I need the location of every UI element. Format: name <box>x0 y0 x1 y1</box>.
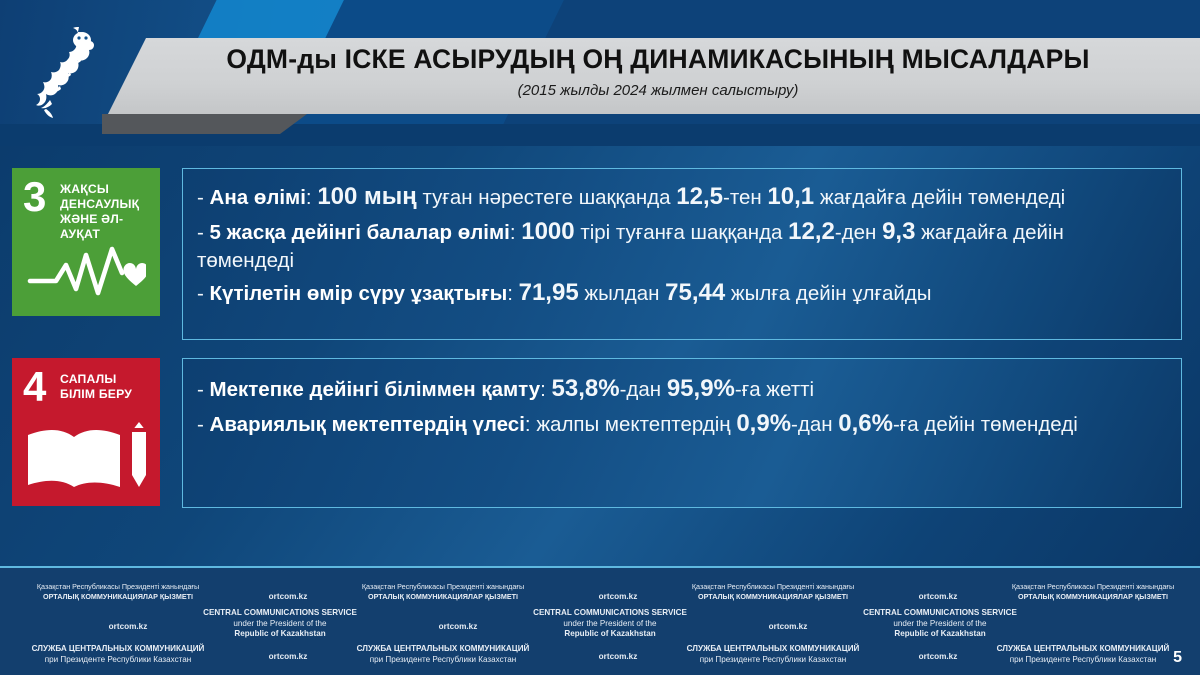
footer-site-4: ortcom.kz <box>88 622 168 633</box>
heartbeat-icon <box>12 241 160 308</box>
sdg-title-3-line2: ЖӘНЕ ӘЛ-АУҚАТ <box>60 212 154 242</box>
text-per-births: туған нәрестеге шаққанда <box>417 186 676 209</box>
page-subtitle: (2015 жылды 2024 жылмен салыстыру) <box>128 82 1188 99</box>
open-book-and-pencil-icon <box>12 421 160 498</box>
bullet-dash: - <box>197 221 210 244</box>
footer-org-en-line3: Republic of Kazakhstan <box>510 629 710 640</box>
footer-org-en-line1: CENTRAL COMMUNICATIONS SERVICE <box>180 608 380 619</box>
sdg-title-3-line1: ЖАҚСЫ ДЕНСАУЛЫҚ <box>60 182 154 212</box>
footer-org-ru-line1: СЛУЖБА ЦЕНТРАЛЬНЫХ КОММУНИКАЦИЙ <box>18 644 218 655</box>
footer-site-7: ortcom.kz <box>248 652 328 663</box>
bullet-maternal-mortality: - Ана өлімі: 100 мың туған нәрестеге шақ… <box>197 181 1165 213</box>
footer-watermark-bar: Қазақстан Республикасы Президенті жанынд… <box>0 566 1200 675</box>
footer-org-ru: СЛУЖБА ЦЕНТРАЛЬНЫХ КОММУНИКАЦИЙ при През… <box>18 644 218 665</box>
footer-org-en-line3: Republic of Kazakhstan <box>840 629 1040 640</box>
footer-org-kk: Қазақстан Республикасы Президенті жанынд… <box>988 582 1198 601</box>
text-per-live-births: тірі туғанға шаққанда <box>575 221 789 244</box>
panel-education: - Мектепке дейінгі біліммен қамту: 53,8%… <box>182 358 1182 508</box>
footer-org-kk-line1: Қазақстан Республикасы Президенті жанынд… <box>338 582 548 592</box>
bullet-colon: : <box>306 186 317 209</box>
footer-org-kk-line2: ОРТАЛЫҚ КОММУНИКАЦИЯЛАР ҚЫЗМЕТІ <box>668 592 878 602</box>
value-to-9-3: 9,3 <box>882 218 915 245</box>
sdg-title-4-line2: БІЛІМ БЕРУ <box>60 387 154 402</box>
footer-org-kk-line1: Қазақстан Республикасы Президенті жанынд… <box>668 582 878 592</box>
footer-org-ru: СЛУЖБА ЦЕНТРАЛЬНЫХ КОММУНИКАЦИЙ при През… <box>978 644 1188 665</box>
value-from-53-8: 53,8% <box>552 375 620 402</box>
bullet-dash: - <box>197 413 210 436</box>
footer-org-kk-line1: Қазақстан Республикасы Президенті жанынд… <box>18 582 218 592</box>
bullet-dilapidated-schools: - Авариялық мектептердің үлесі: жалпы ме… <box>197 408 1165 440</box>
footer-site-5: ortcom.kz <box>418 622 498 633</box>
footer-site-1: ortcom.kz <box>248 592 328 603</box>
bullet-colon: : <box>525 413 536 436</box>
text-from-suffix: -ден <box>835 221 882 244</box>
footer-org-en-line2: under the President of the <box>180 619 380 630</box>
footer-site-8: ortcom.kz <box>578 652 658 663</box>
text-decline-tail: -ға дейін төмендеді <box>893 413 1078 436</box>
footer-org-ru-line1: СЛУЖБА ЦЕНТРАЛЬНЫХ КОММУНИКАЦИЙ <box>978 644 1188 655</box>
footer-org-kk-line1: Қазақстан Республикасы Президенті жанынд… <box>988 582 1198 592</box>
panel-health: - Ана өлімі: 100 мың туған нәрестеге шақ… <box>182 168 1182 340</box>
value-to-10-1: 10,1 <box>767 183 814 210</box>
footer-site-2: ortcom.kz <box>578 592 658 603</box>
text-from-suffix: -тен <box>723 186 767 209</box>
bullet-dash: - <box>197 378 210 401</box>
value-from-71-95: 71,95 <box>519 279 579 306</box>
footer-org-ru-line2: при Президенте Республики Казахстан <box>18 655 218 666</box>
value-to-0-6: 0,6% <box>838 410 893 437</box>
footer-org-ru-line1: СЛУЖБА ЦЕНТРАЛЬНЫХ КОММУНИКАЦИЙ <box>668 644 878 655</box>
footer-site-6: ortcom.kz <box>748 622 828 633</box>
title-wedge-shadow <box>102 114 312 134</box>
footer-org-ru: СЛУЖБА ЦЕНТРАЛЬНЫХ КОММУНИКАЦИЙ при През… <box>338 644 548 665</box>
footer-org-ru: СЛУЖБА ЦЕНТРАЛЬНЫХ КОММУНИКАЦИЙ при През… <box>668 644 878 665</box>
footer-org-ru-line2: при Президенте Республики Казахстан <box>668 655 878 666</box>
sdg-number-3: 3 <box>23 178 46 217</box>
section-education: 4 САПАЛЫ БІЛІМ БЕРУ - Мектепке дейінг <box>12 358 1182 508</box>
footer-org-en: CENTRAL COMMUNICATIONS SERVICE under the… <box>840 608 1040 640</box>
footer-org-en-line3: Republic of Kazakhstan <box>180 629 380 640</box>
text-of-total-schools: жалпы мектептердің <box>536 413 736 436</box>
bullet-preschool-coverage: - Мектепке дейінгі біліммен қамту: 53,8%… <box>197 373 1165 405</box>
footer-site-3: ortcom.kz <box>898 592 978 603</box>
footer-org-kk-line2: ОРТАЛЫҚ КОММУНИКАЦИЯЛАР ҚЫЗМЕТІ <box>338 592 548 602</box>
footer-org-kk-line2: ОРТАЛЫҚ КОММУНИКАЦИЯЛАР ҚЫЗМЕТІ <box>18 592 218 602</box>
sdg-title-3: ЖАҚСЫ ДЕНСАУЛЫҚ ЖӘНЕ ӘЛ-АУҚАТ <box>60 182 154 242</box>
text-reached-tail: -ға жетті <box>735 378 814 401</box>
footer-org-ru-line1: СЛУЖБА ЦЕНТРАЛЬНЫХ КОММУНИКАЦИЙ <box>338 644 548 655</box>
value-1000: 1000 <box>521 218 574 245</box>
bullet-dash: - <box>197 282 210 305</box>
sdg-card-4: 4 САПАЛЫ БІЛІМ БЕРУ <box>12 358 160 506</box>
bullet-label: Авариялық мектептердің үлесі <box>210 413 525 436</box>
section-health: 3 ЖАҚСЫ ДЕНСАУЛЫҚ ЖӘНЕ ӘЛ-АУҚАТ - Ана өл… <box>12 168 1182 340</box>
bullet-label: Мектепке дейінгі біліммен қамту <box>210 378 541 401</box>
footer-org-kk-line2: ОРТАЛЫҚ КОММУНИКАЦИЯЛАР ҚЫЗМЕТІ <box>988 592 1198 602</box>
text-from-suffix: -дан <box>791 413 838 436</box>
sdg-card-3: 3 ЖАҚСЫ ДЕНСАУЛЫҚ ЖӘНЕ ӘЛ-АУҚАТ <box>12 168 160 316</box>
footer-org-ru-line2: при Президенте Республики Казахстан <box>338 655 548 666</box>
footer-org-en-line1: CENTRAL COMMUNICATIONS SERVICE <box>510 608 710 619</box>
value-100k: 100 мың <box>317 183 416 210</box>
page-title: ОДМ-ды ІСКЕ АСЫРУДЫҢ ОҢ ДИНАМИКАСЫНЫҢ МЫ… <box>128 44 1188 75</box>
footer-org-en-line2: under the President of the <box>510 619 710 630</box>
slide: ОДМ-ды ІСКЕ АСЫРУДЫҢ ОҢ ДИНАМИКАСЫНЫҢ МЫ… <box>0 0 1200 675</box>
value-to-95-9: 95,9% <box>667 375 735 402</box>
bullet-colon: : <box>540 378 551 401</box>
bullet-label: Күтілетін өмір сүру ұзақтығы <box>210 282 508 305</box>
text-from-suffix: -дан <box>620 378 667 401</box>
bullet-colon: : <box>507 282 518 305</box>
footer-org-en: CENTRAL COMMUNICATIONS SERVICE under the… <box>510 608 710 640</box>
footer-org-kk: Қазақстан Республикасы Президенті жанынд… <box>338 582 548 601</box>
bullet-dash: - <box>197 186 210 209</box>
value-from-12-2: 12,2 <box>788 218 835 245</box>
bullet-life-expectancy: - Күтілетін өмір сүру ұзақтығы: 71,95 жы… <box>197 277 1165 309</box>
page-number: 5 <box>1173 649 1182 667</box>
value-from-0-9: 0,9% <box>736 410 791 437</box>
value-to-75-44: 75,44 <box>665 279 725 306</box>
title-bar: ОДМ-ды ІСКЕ АСЫРУДЫҢ ОҢ ДИНАМИКАСЫНЫҢ МЫ… <box>108 38 1200 114</box>
bullet-colon: : <box>510 221 521 244</box>
bullet-under5-mortality: - 5 жасқа дейінгі балалар өлімі: 1000 ті… <box>197 216 1165 275</box>
sdg-title-4-line1: САПАЛЫ <box>60 372 154 387</box>
value-from-12-5: 12,5 <box>676 183 723 210</box>
sdg-title-4: САПАЛЫ БІЛІМ БЕРУ <box>60 372 154 402</box>
content-area: 3 ЖАҚСЫ ДЕНСАУЛЫҚ ЖӘНЕ ӘЛ-АУҚАТ - Ана өл… <box>0 146 1200 566</box>
text-decline-tail: жағдайға дейін төмендеді <box>814 186 1065 209</box>
footer-org-en-line1: CENTRAL COMMUNICATIONS SERVICE <box>840 608 1040 619</box>
footer-org-kk: Қазақстан Республикасы Президенті жанынд… <box>18 582 218 601</box>
text-years-from: жылдан <box>579 282 665 305</box>
footer-site-9: ortcom.kz <box>898 652 978 663</box>
snow-leopard-emblem <box>30 26 108 122</box>
bullet-label: Ана өлімі <box>210 186 306 209</box>
bullet-label: 5 жасқа дейінгі балалар өлімі <box>210 221 510 244</box>
footer-org-kk: Қазақстан Республикасы Президенті жанынд… <box>668 582 878 601</box>
footer-org-ru-line2: при Президенте Республики Казахстан <box>978 655 1188 666</box>
footer-org-en: CENTRAL COMMUNICATIONS SERVICE under the… <box>180 608 380 640</box>
footer-org-en-line2: under the President of the <box>840 619 1040 630</box>
text-growth-tail: жылға дейін ұлғайды <box>725 282 931 305</box>
sdg-number-4: 4 <box>23 368 46 407</box>
